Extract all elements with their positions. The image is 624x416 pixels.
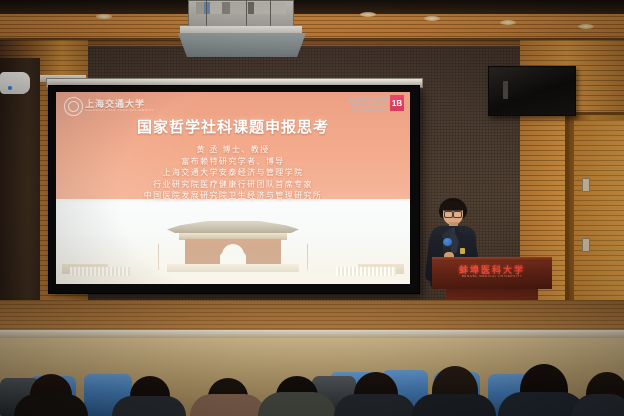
projector-mount: [180, 26, 302, 34]
photo-washout-overlay: [56, 202, 410, 284]
slide-line: 中国医院发展研究院卫生经济与管理研究所: [56, 190, 410, 202]
projector-cable: [206, 0, 207, 28]
projector-cable: [270, 0, 271, 27]
audience-shoulders: [190, 394, 266, 416]
downlight: [96, 14, 112, 19]
sjtu-logo-icon: [64, 97, 83, 116]
presentation-slide: 上海交通大学 SHANGHAI JIAO TONG UNIVERSITY 1B …: [56, 92, 410, 284]
audience-shoulders: [112, 396, 186, 416]
access-point-led: [8, 86, 12, 90]
slide-line: 黄 丞 博士、教授: [56, 144, 410, 156]
audience-shoulders: [258, 392, 336, 416]
door-panel: [574, 120, 624, 327]
microphone-head: [443, 238, 452, 246]
glasses-icon: [444, 210, 462, 216]
slide-line: 行业研究院医疗健康行研团队首席专家: [56, 179, 410, 191]
wifi-access-point-icon: [0, 72, 30, 94]
audience-shoulders: [412, 394, 496, 416]
audience-shoulders: [14, 394, 88, 416]
slide-line: 富布赖特研究学者、博导: [56, 156, 410, 168]
lecture-hall-photo: 上海交通大学 SHANGHAI JIAO TONG UNIVERSITY 1B …: [0, 0, 624, 416]
lower-wall: [0, 300, 624, 334]
projector-ceiling-plate: [178, 33, 306, 57]
presenter-fringe: [440, 201, 466, 210]
speaker-driver: [503, 81, 508, 99]
speaker-icon: [488, 66, 576, 116]
ceiling-dark-band: [0, 0, 624, 14]
projector-cable: [246, 0, 247, 26]
downlight: [360, 12, 376, 17]
slide-title: 国家哲学社科课题申报思考: [56, 116, 410, 137]
podium-top-edge: [432, 257, 552, 261]
downlight: [424, 16, 440, 21]
slide-line: 上海交通大学安泰经济与管理学院: [56, 167, 410, 179]
podium-university-text-en: BENGBU MEDICAL UNIVERSITY: [432, 274, 552, 278]
slide-badge-text: 安泰经济与管理学院 ANTAI COLLEGE OF ECONOMICS: [344, 97, 388, 112]
slide-presenter-info: 黄 丞 博士、教授 富布赖特研究学者、博导 上海交通大学安泰经济与管理学院 行业…: [56, 144, 410, 202]
floor-edge-rail: [0, 330, 624, 338]
projector-detail: [196, 2, 286, 14]
downlight: [500, 20, 516, 25]
door-hinge: [582, 178, 590, 192]
downlight: [578, 24, 594, 29]
audience-shoulders: [334, 394, 416, 416]
door-hinge: [582, 238, 590, 252]
slide-university-name-en: SHANGHAI JIAO TONG UNIVERSITY: [85, 108, 154, 112]
slide-campus-photo: [56, 202, 410, 284]
presenter-badge: [460, 248, 465, 254]
slide-badge: 1B: [390, 95, 404, 111]
